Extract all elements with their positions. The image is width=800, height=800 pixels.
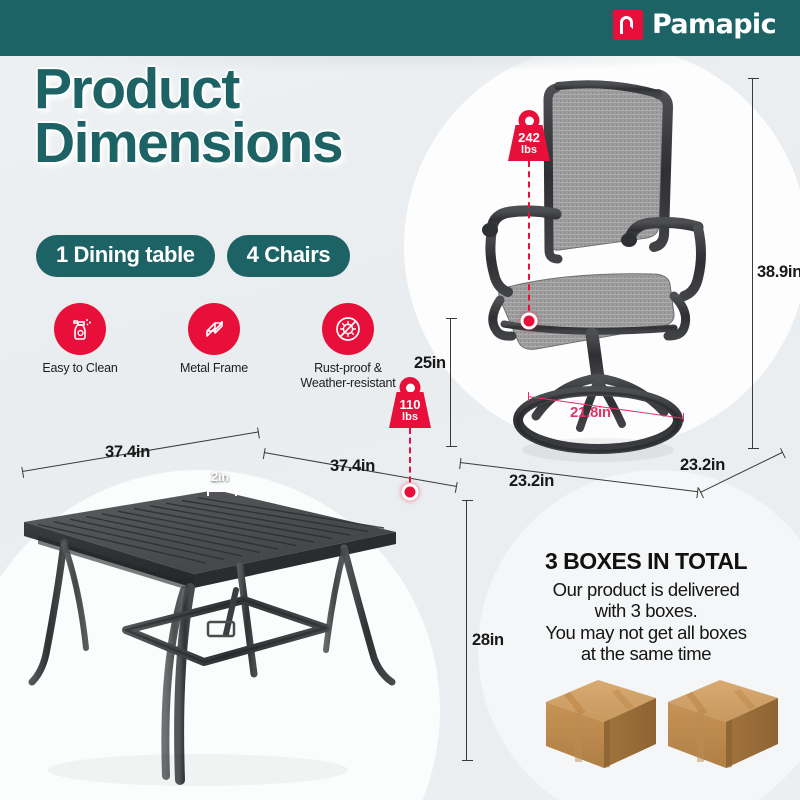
brand-name: Pamapic bbox=[652, 9, 776, 40]
feature-label-rust-proof: Rust-proof & Weather-resistant bbox=[300, 361, 395, 392]
chair-weight-point bbox=[521, 313, 538, 330]
metal-sheets-icon bbox=[188, 303, 240, 355]
boxes-line-1: Our product is delivered bbox=[500, 579, 792, 600]
feature-rust-proof: Rust-proof & Weather-resistant bbox=[290, 303, 406, 392]
chair-base-diameter-label: 21.8in bbox=[570, 404, 611, 421]
spray-bottle-icon bbox=[54, 303, 106, 355]
boxes-title: 3 BOXES IN TOTAL bbox=[500, 548, 792, 575]
boxes-info-block: 3 BOXES IN TOTAL Our product is delivere… bbox=[500, 548, 792, 665]
table-weight-point bbox=[402, 484, 419, 501]
boxes-line-3: You may not get all boxes bbox=[500, 622, 792, 643]
table-weight-unit: lbs bbox=[402, 412, 418, 423]
chair-weight-badge: 242 lbs bbox=[508, 125, 550, 161]
feature-label-easy-to-clean: Easy to Clean bbox=[42, 361, 117, 376]
table-depth-label: 37.4in bbox=[330, 457, 375, 476]
table-height-label: 28in bbox=[472, 631, 504, 650]
feature-metal-frame: Metal Frame bbox=[156, 303, 272, 392]
feature-row: Easy to Clean Metal Frame bbox=[22, 303, 406, 392]
pamapic-mark-icon bbox=[613, 10, 643, 40]
chair-depth-label: 23.2in bbox=[680, 456, 725, 475]
chair-weight-leader-line bbox=[528, 161, 530, 321]
chair-base-diameter-line bbox=[528, 396, 684, 397]
table-height-dimension-line bbox=[466, 500, 467, 760]
feature-easy-to-clean: Easy to Clean bbox=[22, 303, 138, 392]
chair-weight-body: 242 lbs bbox=[508, 125, 550, 161]
chair-height-label: 38.9in bbox=[757, 263, 800, 282]
brand-logo: Pamapic bbox=[613, 9, 776, 40]
table-weight-badge: 110 lbs bbox=[389, 392, 431, 428]
chair-weight-unit: lbs bbox=[521, 145, 537, 156]
chair-weight-value: 242 bbox=[518, 131, 540, 144]
pill-chairs: 4 Chairs bbox=[227, 235, 351, 277]
boxes-line-2: with 3 boxes. bbox=[500, 600, 792, 621]
infographic-canvas: Pamapic Product Dimensions 1 Dining tabl… bbox=[0, 0, 800, 800]
chair-width-label: 23.2in bbox=[509, 472, 554, 491]
table-weight-value: 110 bbox=[400, 398, 421, 411]
table-width-label: 37.4in bbox=[105, 443, 150, 462]
table-weight-body: 110 lbs bbox=[389, 392, 431, 428]
chair-seat-height-label: 25in bbox=[414, 354, 446, 373]
carton-boxes-illustration bbox=[540, 672, 790, 782]
chair-height-dimension-line bbox=[752, 78, 753, 448]
umbrella-hole-label: 2in bbox=[211, 469, 229, 484]
contents-pill-row: 1 Dining table 4 Chairs bbox=[36, 235, 350, 277]
title-line-2: Dimensions bbox=[34, 116, 464, 170]
page-title: Product Dimensions bbox=[34, 62, 464, 170]
boxes-line-4: at the same time bbox=[500, 643, 792, 664]
feature-label-metal-frame: Metal Frame bbox=[180, 361, 248, 376]
carton-box bbox=[668, 680, 778, 768]
umbrella-hole-measure-icon bbox=[206, 484, 238, 498]
square-dining-table-illustration bbox=[8, 470, 408, 790]
chair-seat-height-line bbox=[450, 318, 451, 446]
carton-box bbox=[546, 680, 656, 768]
table-weight-leader-line bbox=[409, 428, 411, 492]
no-rust-germ-icon bbox=[322, 303, 374, 355]
pill-dining-table: 1 Dining table bbox=[36, 235, 215, 277]
